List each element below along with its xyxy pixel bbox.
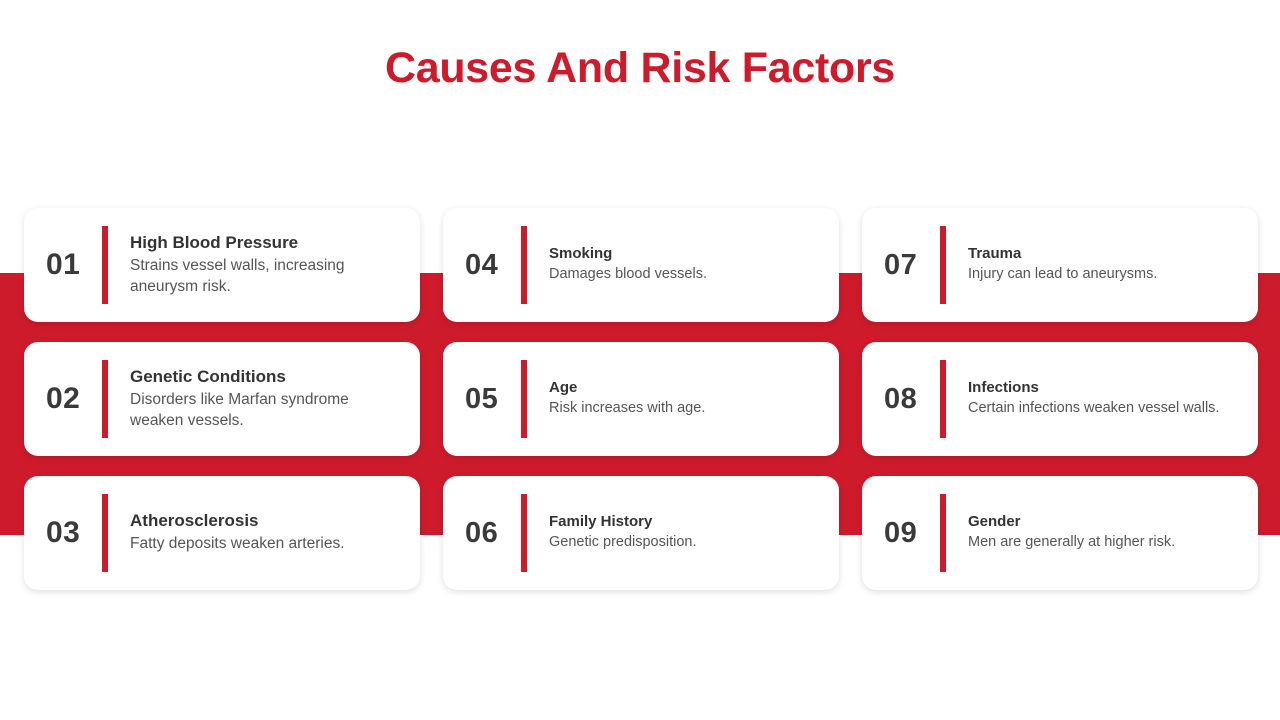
card-title: Atherosclerosis — [130, 511, 404, 531]
card-text-block: Trauma Injury can lead to aneurysms. — [968, 245, 1258, 285]
risk-factor-card-09[interactable]: 09 Gender Men are generally at higher ri… — [862, 476, 1258, 590]
card-title: Gender — [968, 513, 1242, 530]
card-number: 03 — [46, 516, 102, 550]
card-number: 02 — [46, 382, 102, 416]
card-description: Strains vessel walls, increasing aneurys… — [130, 256, 404, 298]
card-description: Risk increases with age. — [549, 399, 823, 419]
card-text-block: Genetic Conditions Disorders like Marfan… — [130, 367, 420, 432]
card-number: 07 — [884, 249, 940, 282]
risk-factor-card-08[interactable]: 08 Infections Certain infections weaken … — [862, 342, 1258, 456]
card-text-block: Smoking Damages blood vessels. — [549, 245, 839, 285]
card-description: Disorders like Marfan syndrome weaken ve… — [130, 390, 404, 432]
card-description: Fatty deposits weaken arteries. — [130, 534, 404, 555]
card-number: 06 — [465, 517, 521, 550]
card-title: Genetic Conditions — [130, 367, 404, 387]
card-description: Certain infections weaken vessel walls. — [968, 399, 1242, 419]
card-title: Infections — [968, 379, 1242, 396]
accent-bar-icon — [521, 494, 527, 572]
risk-factor-card-04[interactable]: 04 Smoking Damages blood vessels. — [443, 208, 839, 322]
accent-bar-icon — [102, 494, 108, 572]
card-text-block: Infections Certain infections weaken ves… — [968, 379, 1258, 419]
card-description: Genetic predisposition. — [549, 533, 823, 553]
card-number: 08 — [884, 383, 940, 416]
card-description: Men are generally at higher risk. — [968, 533, 1242, 553]
card-text-block: High Blood Pressure Strains vessel walls… — [130, 233, 420, 298]
card-number: 01 — [46, 248, 102, 282]
accent-bar-icon — [102, 226, 108, 304]
card-title: Smoking — [549, 245, 823, 262]
card-text-block: Family History Genetic predisposition. — [549, 513, 839, 553]
risk-factor-cards-grid: 01 High Blood Pressure Strains vessel wa… — [24, 208, 1258, 590]
card-title: Age — [549, 379, 823, 396]
risk-factor-card-05[interactable]: 05 Age Risk increases with age. — [443, 342, 839, 456]
card-number: 05 — [465, 383, 521, 416]
card-title: High Blood Pressure — [130, 233, 404, 253]
accent-bar-icon — [940, 360, 946, 438]
page-title: Causes And Risk Factors — [0, 44, 1280, 93]
card-number: 04 — [465, 249, 521, 282]
risk-factor-card-06[interactable]: 06 Family History Genetic predisposition… — [443, 476, 839, 590]
risk-factor-card-03[interactable]: 03 Atherosclerosis Fatty deposits weaken… — [24, 476, 420, 590]
accent-bar-icon — [940, 226, 946, 304]
accent-bar-icon — [102, 360, 108, 438]
card-text-block: Gender Men are generally at higher risk. — [968, 513, 1258, 553]
card-text-block: Atherosclerosis Fatty deposits weaken ar… — [130, 511, 420, 555]
card-description: Injury can lead to aneurysms. — [968, 265, 1242, 285]
accent-bar-icon — [521, 360, 527, 438]
accent-bar-icon — [940, 494, 946, 572]
risk-factor-card-01[interactable]: 01 High Blood Pressure Strains vessel wa… — [24, 208, 420, 322]
risk-factor-card-07[interactable]: 07 Trauma Injury can lead to aneurysms. — [862, 208, 1258, 322]
risk-factor-card-02[interactable]: 02 Genetic Conditions Disorders like Mar… — [24, 342, 420, 456]
card-number: 09 — [884, 517, 940, 550]
card-description: Damages blood vessels. — [549, 265, 823, 285]
card-text-block: Age Risk increases with age. — [549, 379, 839, 419]
card-title: Family History — [549, 513, 823, 530]
card-title: Trauma — [968, 245, 1242, 262]
accent-bar-icon — [521, 226, 527, 304]
